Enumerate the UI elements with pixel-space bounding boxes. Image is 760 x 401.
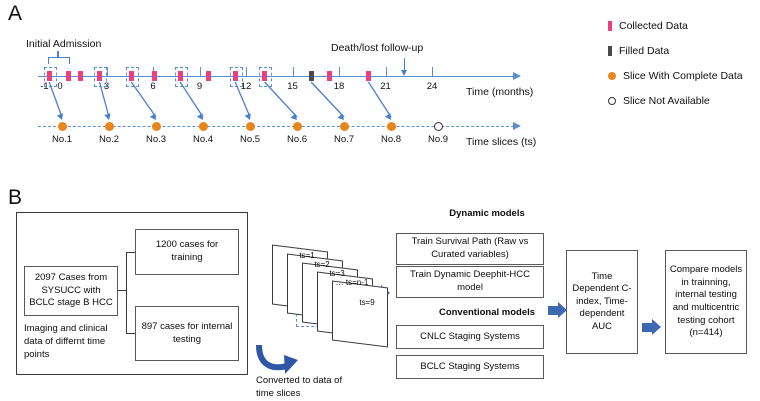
slice-dot-complete xyxy=(340,122,349,131)
panel-a-letter: A xyxy=(8,2,22,26)
slice-dot-complete xyxy=(152,122,161,131)
collected-data-marker xyxy=(366,71,371,81)
slice-dot-complete xyxy=(199,122,208,131)
legend-item-collected-data: Collected Data xyxy=(608,20,743,32)
slice-label: No.4 xyxy=(183,134,223,145)
time-axis-tick xyxy=(386,67,387,76)
conventional-models-heading: Conventional models xyxy=(412,307,562,318)
slice-label: No.7 xyxy=(324,134,364,145)
initial-admission-label: Initial Admission xyxy=(26,38,101,50)
metrics-box[interactable]: Time Dependent C-index, Time-dependent A… xyxy=(566,250,638,354)
slice-dot-complete xyxy=(58,122,67,131)
slice-label: No.8 xyxy=(371,134,411,145)
dynamic-models-heading: Dynamic models xyxy=(412,208,562,219)
time-axis-tick-label: 24 xyxy=(421,81,443,92)
collected-data-marker xyxy=(233,71,238,81)
testing-cohort-box[interactable]: 897 cases for internal testing xyxy=(135,306,239,361)
time-axis-tick-label: 21 xyxy=(375,81,397,92)
slice-dot-complete xyxy=(293,122,302,131)
death-arrow-head xyxy=(401,70,407,76)
legend-label: Slice With Complete Data xyxy=(623,70,743,82)
legend-item-slice-complete: Slice With Complete Data xyxy=(608,70,743,82)
collected-data-marker xyxy=(78,71,83,81)
training-cohort-box[interactable]: 1200 cases for training xyxy=(135,229,239,275)
legend-item-filled-data: Filled Data xyxy=(608,45,743,57)
source-cohort-box[interactable]: 2097 Cases from SYSUCC with BCLC stage B… xyxy=(24,266,118,316)
collected-data-marker xyxy=(327,71,332,81)
time-axis-label: Time (months) xyxy=(466,86,533,98)
time-slice-slab-label: ts=3 xyxy=(312,269,362,278)
time-axis-tick-label: 9 xyxy=(189,81,211,92)
slice-label: No.3 xyxy=(136,134,176,145)
collected-data-marker xyxy=(97,71,102,81)
death-lost-followup-label: Death/lost follow-up xyxy=(331,42,423,54)
legend-item-slice-not-available: Slice Not Available xyxy=(608,95,743,107)
time-slice-slab-label: ts=1 xyxy=(282,251,332,260)
collected-data-marker xyxy=(262,71,267,81)
time-slice-slab-label: ts=2 xyxy=(297,260,347,269)
legend-label: Collected Data xyxy=(619,20,688,32)
collected-data-marker xyxy=(152,71,157,81)
time-axis-tick-label: 18 xyxy=(328,81,350,92)
gray-bar-icon xyxy=(608,46,612,56)
initial-admission-bracket-stem xyxy=(57,51,59,58)
model-box-cnlc-staging[interactable]: CNLC Staging Systems xyxy=(396,325,544,349)
slice-dot-complete xyxy=(387,122,396,131)
legend-label: Filled Data xyxy=(619,45,669,57)
time-slice-slab-label: ts=9 xyxy=(342,298,392,307)
open-circle-icon xyxy=(608,97,616,105)
collected-data-marker xyxy=(66,71,71,81)
convert-curved-arrow-icon xyxy=(256,343,312,377)
time-axis-tick-label: 6 xyxy=(142,81,164,92)
slice-label: No.6 xyxy=(277,134,317,145)
slice-label: No.5 xyxy=(230,134,270,145)
panel-b-letter: B xyxy=(8,186,22,210)
collected-data-marker xyxy=(47,71,52,81)
slice-dot-complete xyxy=(105,122,114,131)
slice-axis-arrowhead xyxy=(513,122,521,130)
time-axis-tick xyxy=(293,67,294,76)
slice-label: No.9 xyxy=(418,134,458,145)
panel-a-legend: Collected Data Filled Data Slice With Co… xyxy=(608,20,743,107)
collected-data-marker xyxy=(206,71,211,81)
model-box-bclc-staging[interactable]: BCLC Staging Systems xyxy=(396,355,544,379)
pink-bar-icon xyxy=(608,21,612,31)
time-axis-tick-label: 15 xyxy=(282,81,304,92)
time-slice-slab-label: … ts=n-1 xyxy=(327,278,377,287)
time-axis-tick xyxy=(200,67,201,76)
collected-data-marker xyxy=(129,71,134,81)
cohort-connector-to-testing xyxy=(126,333,135,334)
orange-dot-icon xyxy=(608,72,616,80)
model-box-deephit-hcc[interactable]: Train Dynamic Deephit-HCC model xyxy=(396,266,544,298)
cohort-connector-vertical xyxy=(126,252,127,334)
time-axis-tick xyxy=(246,67,247,76)
legend-label: Slice Not Available xyxy=(623,95,710,107)
compare-models-box[interactable]: Compare models in trainning, internal te… xyxy=(665,250,747,354)
slice-dot-complete xyxy=(246,122,255,131)
initial-admission-bracket xyxy=(48,57,70,64)
time-axis-arrowhead xyxy=(513,72,521,80)
model-box-survival-path[interactable]: Train Survival Path (Raw vs Curated vari… xyxy=(396,233,544,265)
filled-data-marker xyxy=(309,71,314,81)
flow-arrow-2-icon xyxy=(548,302,568,319)
slice-label: No.2 xyxy=(89,134,129,145)
slice-axis-label: Time slices (ts) xyxy=(466,136,536,148)
collected-data-marker xyxy=(178,71,183,81)
convert-caption: Converted to data of time slices xyxy=(256,375,352,401)
cohort-caption: Imaging and clinical data of differnt ti… xyxy=(24,323,124,361)
time-axis-line xyxy=(38,76,514,77)
time-axis-tick xyxy=(339,67,340,76)
time-slice-slab[interactable] xyxy=(332,281,388,348)
slice-label: No.1 xyxy=(42,134,82,145)
slice-dot-unavailable xyxy=(434,122,443,131)
flow-arrow-3-icon xyxy=(642,319,662,336)
cohort-connector-to-training xyxy=(126,252,135,253)
time-axis-tick xyxy=(432,67,433,76)
